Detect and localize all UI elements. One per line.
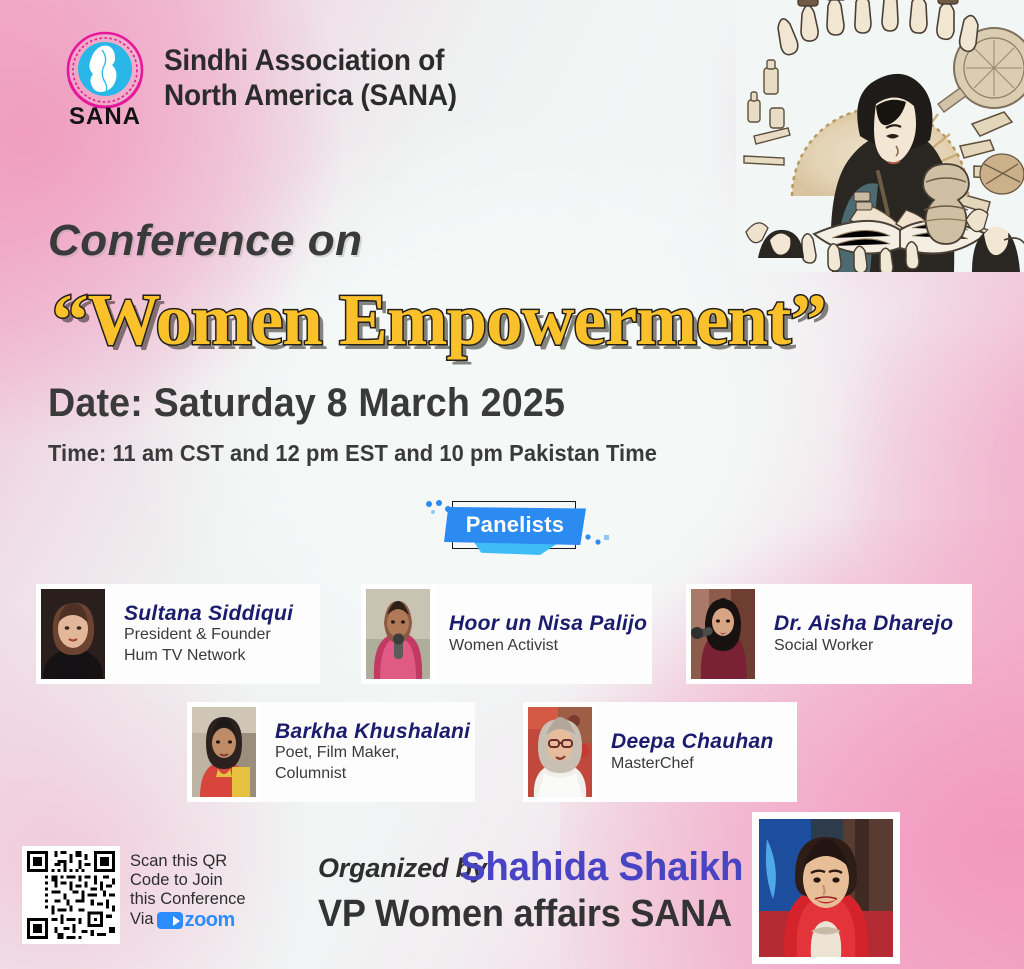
organizer-name: Shahida Shaikh (460, 845, 743, 890)
qr-join-block[interactable]: Scan this QR Code to Join this Conferenc… (22, 846, 246, 944)
panelist-role-line1: Social Worker (774, 636, 954, 656)
svg-text:SANA: SANA (69, 103, 141, 128)
poster-canvas: SANA Sindhi Association of North America… (0, 0, 1024, 969)
page-title: “Women Empowerment” (52, 283, 992, 356)
panelist-name: Deepa Chauhan (611, 730, 779, 754)
panelist-photo (187, 702, 261, 802)
panelist-name: Sultana Siddiqui (124, 602, 302, 626)
panelist-photo (361, 584, 435, 684)
panelist-name: Dr. Aisha Dharejo (774, 612, 954, 636)
panelist-info: Barkha Khushalani Poet, Film Maker, Colu… (261, 702, 475, 802)
qr-line-3: this Conference (130, 890, 246, 909)
qr-via-label: Via (130, 910, 154, 928)
zoom-logo[interactable]: zoom (157, 909, 235, 932)
panelists-label: Panelists (466, 512, 564, 538)
panelists-banner: Panelists (424, 495, 604, 557)
panelist-name: Hoor un Nisa Palijo (449, 612, 634, 636)
sana-logo: SANA (62, 30, 148, 128)
org-title-line1: Sindhi Association of (164, 44, 457, 79)
panelist-card[interactable]: Sultana Siddiqui President & Founder Hum… (36, 584, 320, 684)
panelist-name: Barkha Khushalani (275, 720, 457, 744)
banner-dots-right (582, 531, 612, 547)
panelist-role-line1: Women Activist (449, 636, 634, 656)
panelist-card[interactable]: Deepa Chauhan MasterChef (523, 702, 797, 802)
panelist-role-line1: Poet, Film Maker, (275, 743, 457, 763)
panelist-card[interactable]: Hoor un Nisa Palijo Women Activist (361, 584, 652, 684)
organizer-photo (752, 812, 900, 964)
panelist-card[interactable]: Dr. Aisha Dharejo Social Worker (686, 584, 972, 684)
panelist-info: Dr. Aisha Dharejo Social Worker (760, 584, 972, 684)
poster-header: SANA Sindhi Association of North America… (62, 30, 479, 128)
event-time: Time: 11 am CST and 12 pm EST and 10 pm … (48, 440, 657, 467)
panelist-role-line1: President & Founder (124, 625, 302, 645)
qr-line-4: Viazoom (130, 909, 246, 932)
panelist-role-line2: Columnist (275, 764, 457, 784)
panelist-role-line1: MasterChef (611, 754, 779, 774)
qr-line-1: Scan this QR (130, 852, 246, 871)
event-date: Date: Saturday 8 March 2025 (48, 381, 565, 426)
video-camera-icon (157, 912, 183, 929)
panelist-info: Sultana Siddiqui President & Founder Hum… (110, 584, 320, 684)
org-title-line2: North America (SANA) (164, 79, 457, 114)
conference-kicker: Conference on (48, 216, 363, 266)
qr-code[interactable] (22, 846, 120, 944)
panelist-photo (36, 584, 110, 684)
qr-line-2: Code to Join (130, 871, 246, 890)
organization-title: Sindhi Association of North America (SAN… (164, 44, 457, 114)
panelist-info: Deepa Chauhan MasterChef (597, 702, 797, 802)
panelist-photo (523, 702, 597, 802)
panelist-role-line2: Hum TV Network (124, 646, 302, 666)
organizer-title: VP Women affairs SANA (318, 893, 732, 936)
banner-shape: Panelists (444, 507, 586, 545)
panelist-card[interactable]: Barkha Khushalani Poet, Film Maker, Colu… (187, 702, 475, 802)
qr-instructions: Scan this QR Code to Join this Conferenc… (130, 846, 246, 933)
panelist-info: Hoor un Nisa Palijo Women Activist (435, 584, 652, 684)
zoom-wordmark: zoom (185, 909, 235, 932)
panelist-photo (686, 584, 760, 684)
woman-writing-illustration (736, 0, 1024, 272)
